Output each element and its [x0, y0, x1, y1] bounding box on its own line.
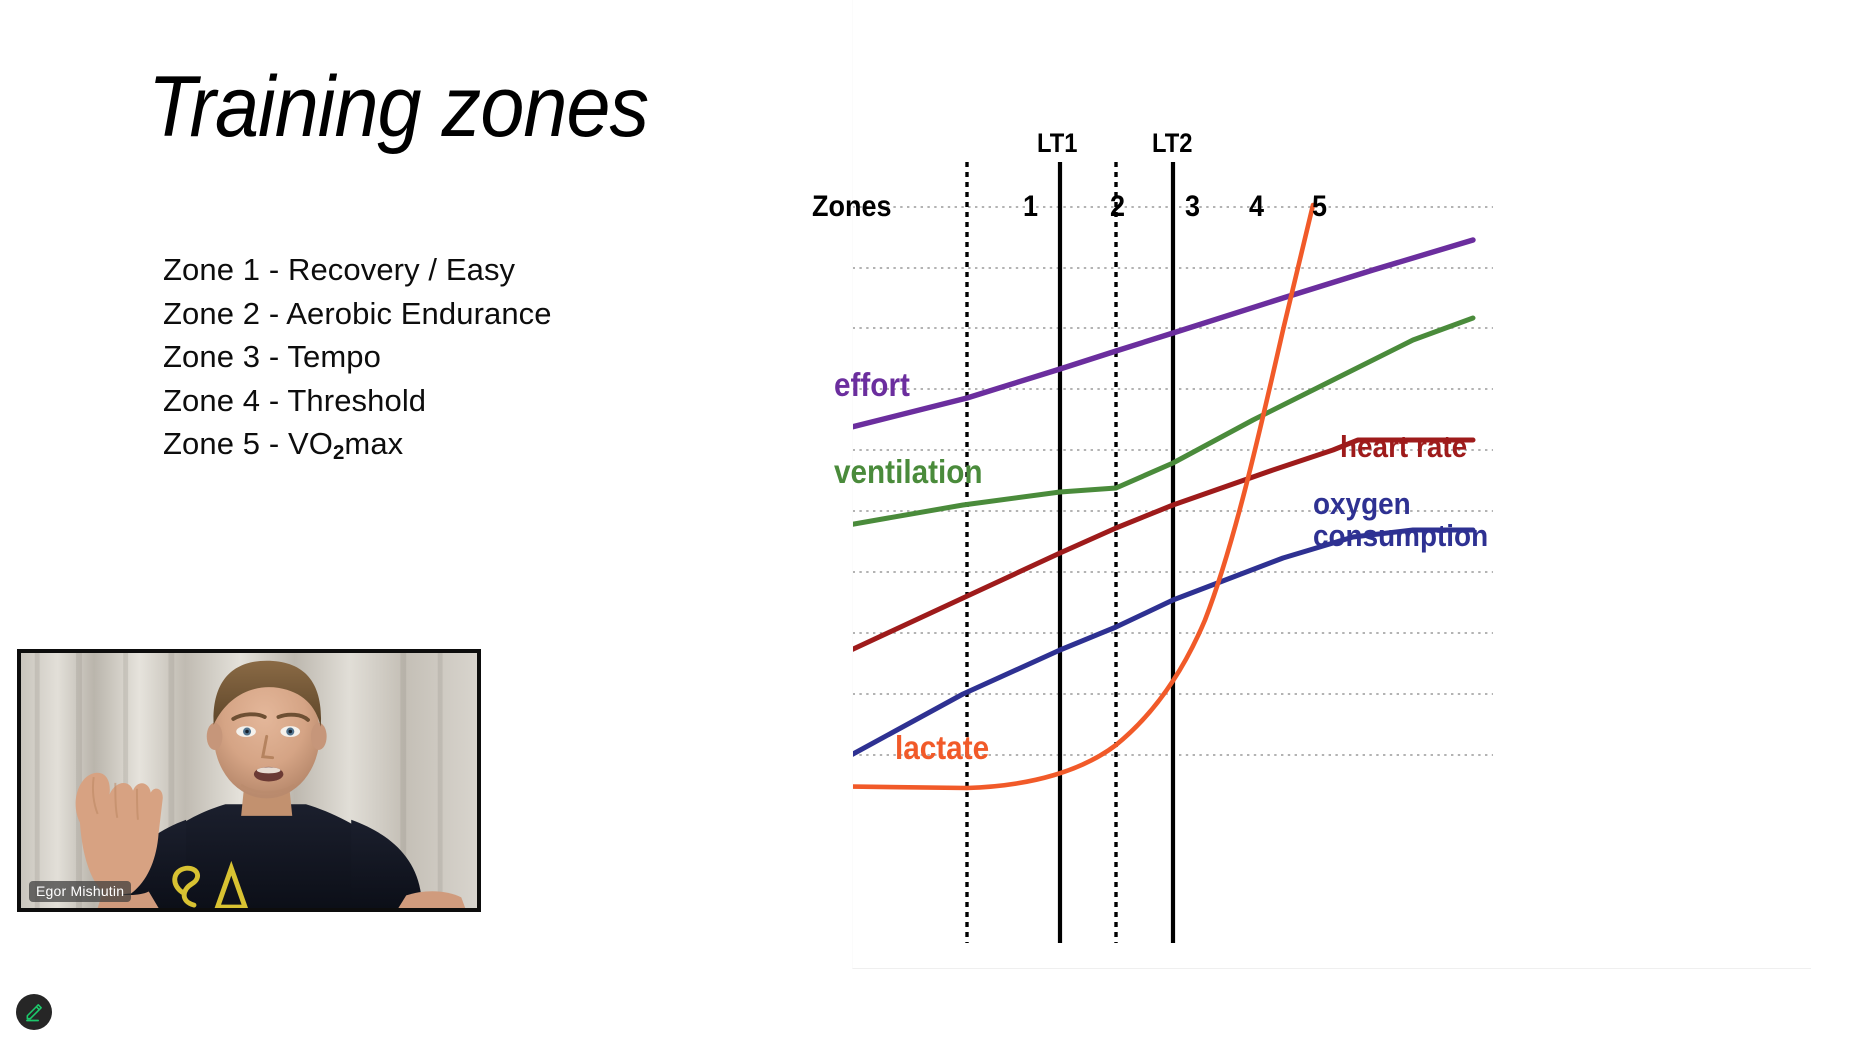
series-label-heart-rate: heart rate — [1340, 431, 1467, 463]
participant-video-tile[interactable]: Egor Mishutin — [17, 649, 481, 912]
series-effort — [853, 240, 1473, 438]
oxygen-line-2: consumption — [1313, 518, 1488, 553]
series-label-ventilation: ventilation — [834, 455, 983, 489]
chart-svg — [853, 0, 1811, 968]
threshold-label-lt1: LT1 — [1037, 128, 1077, 159]
list-item: Zone 4 - Threshold — [163, 379, 723, 423]
series-label-oxygen-consumption: oxygenconsumption — [1313, 488, 1488, 551]
threshold-label-lt2: LT2 — [1152, 128, 1192, 159]
participant-name-badge: Egor Mishutin — [29, 881, 131, 902]
training-zones-chart — [852, 0, 1811, 969]
series-lactate — [853, 205, 1313, 788]
zone-number-1: 1 — [1023, 190, 1038, 224]
zone-divider-lines — [967, 162, 1116, 943]
zone5-prefix: Zone 5 - VO — [163, 426, 333, 461]
pencil-icon — [24, 1002, 44, 1022]
list-item-zone5: Zone 5 - VO2max — [163, 422, 723, 470]
chart-plot-area — [853, 0, 1811, 968]
series-label-effort: effort — [834, 368, 910, 402]
zone-number-2: 2 — [1110, 190, 1125, 224]
list-item: Zone 2 - Aerobic Endurance — [163, 292, 723, 336]
video-frame — [21, 653, 477, 908]
zone5-suffix: max — [344, 426, 403, 461]
zones-axis-label: Zones — [812, 190, 892, 224]
series-label-lactate: lactate — [895, 731, 989, 765]
zone-list: Zone 1 - Recovery / Easy Zone 2 - Aerobi… — [163, 248, 723, 470]
list-item: Zone 3 - Tempo — [163, 335, 723, 379]
zone-number-4: 4 — [1249, 190, 1264, 224]
zone5-subscript: 2 — [333, 441, 344, 464]
zone-number-5: 5 — [1312, 190, 1327, 224]
page-title: Training zones — [148, 62, 648, 152]
annotate-button[interactable] — [16, 994, 52, 1030]
list-item: Zone 1 - Recovery / Easy — [163, 248, 723, 292]
zone-number-3: 3 — [1185, 190, 1200, 224]
oxygen-line-1: oxygen — [1313, 486, 1411, 521]
